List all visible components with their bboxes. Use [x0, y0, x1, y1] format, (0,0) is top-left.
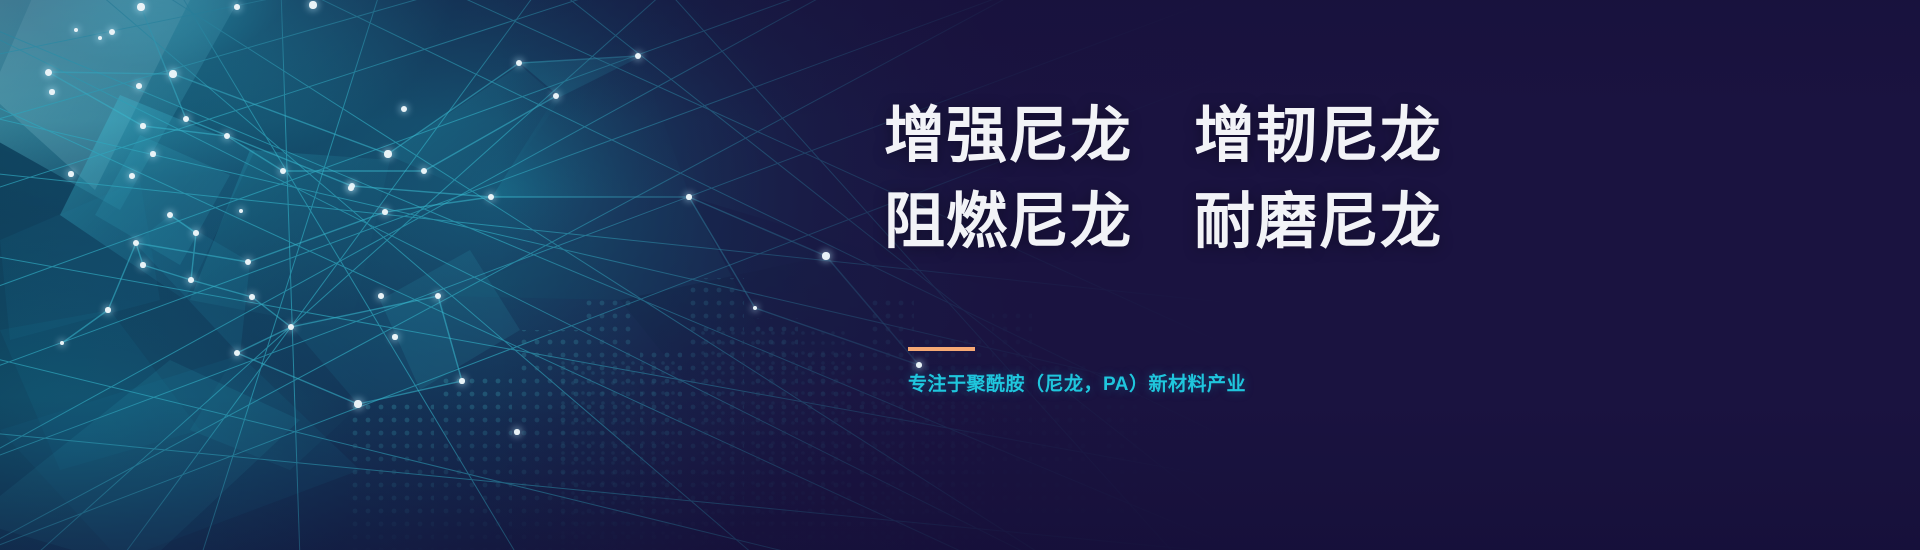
network-node-dot: [183, 116, 190, 123]
network-node-dot: [49, 89, 54, 94]
headline-line-1: 增强尼龙 增韧尼龙: [884, 92, 1524, 178]
network-node-dot: [348, 185, 354, 191]
network-node-dot: [109, 29, 115, 35]
tagline-block: 专注于聚酰胺（尼龙，PA）新材料产业: [908, 347, 1528, 396]
network-node-dot: [193, 230, 199, 236]
network-node-dot: [421, 168, 427, 174]
network-node-dot: [378, 293, 384, 299]
network-node-dot: [822, 252, 829, 259]
network-node-dot: [249, 294, 255, 300]
accent-divider: [908, 347, 975, 351]
network-node-dot: [309, 1, 316, 8]
network-node-dot: [635, 53, 642, 60]
network-node-dot: [288, 324, 294, 330]
network-node-dot: [686, 194, 691, 199]
network-node-dot: [280, 168, 286, 174]
network-node-dot: [459, 378, 464, 383]
network-node-dot: [384, 150, 391, 157]
network-node-dot: [234, 4, 240, 10]
network-node-dot: [224, 133, 230, 139]
network-node-dot: [239, 209, 244, 214]
network-node-dot: [133, 240, 139, 246]
headline-line-2: 阻燃尼龙 耐磨尼龙: [884, 178, 1524, 264]
network-node-dot: [488, 194, 494, 200]
network-node-dot: [753, 306, 758, 311]
network-node-dot: [74, 28, 79, 33]
network-node-dot: [516, 60, 523, 67]
network-node-dot: [150, 151, 155, 156]
network-node-dot: [188, 277, 194, 283]
network-node-dot: [137, 3, 144, 10]
network-node-dot: [68, 171, 73, 176]
network-node-dot: [129, 173, 135, 179]
headline: 增强尼龙 增韧尼龙 阻燃尼龙 耐磨尼龙: [884, 92, 1524, 264]
network-node-dot: [140, 123, 145, 128]
network-node-dot: [167, 212, 173, 218]
network-node-dot: [401, 106, 408, 113]
network-node-dot: [514, 429, 519, 434]
network-node-dot: [435, 293, 441, 299]
banner-content: 增强尼龙 增韧尼龙 阻燃尼龙 耐磨尼龙 专注于聚酰胺（尼龙，PA）新材料产业: [884, 0, 1524, 550]
network-node-dot: [234, 350, 241, 357]
network-node-dot: [382, 209, 388, 215]
network-node-dot: [98, 36, 103, 41]
network-node-dot: [60, 341, 65, 346]
network-node-dot: [392, 334, 397, 339]
network-node-dot: [105, 307, 110, 312]
network-node-dot: [136, 83, 142, 89]
network-node-dot: [245, 259, 251, 265]
network-node-dot: [140, 262, 145, 267]
network-node-dot: [45, 69, 52, 76]
tagline-text: 专注于聚酰胺（尼龙，PA）新材料产业: [908, 369, 1528, 396]
network-node-dot: [553, 93, 559, 99]
network-node-dot: [169, 70, 176, 77]
hero-banner: 增强尼龙 增韧尼龙 阻燃尼龙 耐磨尼龙 专注于聚酰胺（尼龙，PA）新材料产业: [0, 0, 1920, 550]
network-node-dot: [354, 400, 361, 407]
